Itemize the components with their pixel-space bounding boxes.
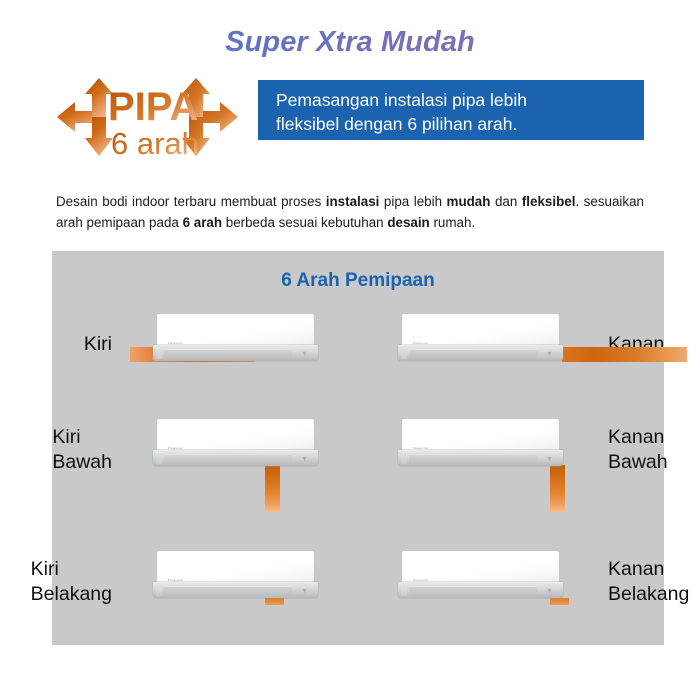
diagram-cell-kanan-bawah: Kanan Bawah Panasonic ▾ — [358, 411, 664, 511]
ac-unit: Panasonic ▾ — [153, 419, 318, 466]
direction-label: Kiri Belakang — [31, 557, 112, 607]
ac-unit: Panasonic ▾ — [153, 551, 318, 598]
ac-unit-body: Panasonic — [402, 551, 559, 584]
ac-unit-body: Panasonic — [157, 419, 314, 452]
ac-unit-vent-bar: ▾ — [153, 582, 318, 598]
ac-unit-vent-bar: ▾ — [398, 450, 563, 466]
pipe-direction-row: Kiri Panasonic ▾ Kanan Pa — [52, 306, 664, 406]
para-seg-6: rumah. — [430, 215, 475, 230]
ac-unit-vent-bar: ▾ — [398, 345, 563, 361]
direction-label: Kanan Belakang — [608, 557, 689, 607]
para-bold-instalasi: instalasi — [326, 194, 380, 209]
pipe-direction-row: Kiri Belakang Panasonic ▾ Kanan Belakang — [52, 543, 664, 643]
ac-unit-louver — [409, 454, 537, 464]
pipe-stub-left — [265, 598, 284, 605]
vent-icon: ▾ — [543, 586, 556, 595]
vent-icon: ▾ — [543, 454, 556, 463]
diagram-cell-kiri: Kiri Panasonic ▾ — [52, 306, 358, 406]
ac-unit-body: Panasonic — [402, 419, 559, 452]
callout-line-1: Pemasangan instalasi pipa lebih — [276, 88, 644, 112]
vent-icon: ▾ — [298, 586, 311, 595]
direction-label-line-1: Kanan — [608, 425, 668, 450]
pipe-direction-row: Kiri Bawah Panasonic ▾ Kanan Bawah — [52, 411, 664, 511]
diagram-cell-kiri-bawah: Kiri Bawah Panasonic ▾ — [52, 411, 358, 511]
diagram-cell-kanan: Kanan Panasonic ▾ — [358, 306, 664, 406]
ac-unit: Panasonic ▾ — [398, 419, 563, 466]
direction-label: Kiri — [84, 332, 112, 357]
para-seg-2: pipa lebih — [379, 194, 446, 209]
ac-unit-body: Panasonic — [402, 314, 559, 347]
ac-unit-endcap — [401, 453, 407, 464]
ac-unit-vent-bar: ▾ — [153, 345, 318, 361]
pipe-vertical-left — [265, 465, 280, 512]
ac-unit-louver — [164, 454, 292, 464]
direction-label-line-2: Bawah — [608, 450, 668, 475]
logo-top-text: PIPA — [108, 85, 198, 129]
direction-label-line-1: Kanan — [608, 557, 689, 582]
vent-icon: ▾ — [298, 454, 311, 463]
pipe-horizontal-right — [562, 347, 687, 362]
callout-box: Pemasangan instalasi pipa lebih fleksibe… — [258, 80, 644, 140]
description-paragraph: Desain bodi indoor terbaru membuat prose… — [56, 191, 644, 233]
pipe-stub-right — [550, 598, 569, 605]
direction-label: Kiri Bawah — [52, 425, 112, 475]
diagram-cell-kiri-belakang: Kiri Belakang Panasonic ▾ — [52, 543, 358, 643]
para-seg-1: Desain bodi indoor terbaru membuat prose… — [56, 194, 326, 209]
callout-line-2: fleksibel dengan 6 pilihan arah. — [276, 112, 644, 136]
ac-unit: Panasonic ▾ — [398, 314, 563, 361]
direction-label-line-2: Bawah — [52, 450, 112, 475]
vent-icon: ▾ — [298, 349, 311, 358]
direction-label-line-1: Kiri — [52, 425, 112, 450]
direction-label: Kanan Bawah — [608, 425, 668, 475]
ac-unit-endcap — [401, 348, 407, 359]
para-bold-desain: desain — [387, 215, 429, 230]
ac-unit-body: Panasonic — [157, 314, 314, 347]
para-seg-5: berbeda sesuai kebutuhan — [222, 215, 387, 230]
para-bold-6-arah: 6 arah — [183, 215, 222, 230]
ac-unit-endcap — [156, 348, 162, 359]
direction-label-line-1: Kiri — [31, 557, 112, 582]
page-title: Super Xtra Mudah — [0, 26, 700, 59]
ac-unit-vent-bar: ▾ — [153, 450, 318, 466]
ac-unit-endcap — [156, 585, 162, 596]
panel-heading: 6 Arah Pemipaan — [52, 270, 664, 292]
para-bold-mudah: mudah — [447, 194, 491, 209]
vent-icon: ▾ — [543, 349, 556, 358]
pipe-vertical-right — [550, 465, 565, 512]
ac-unit-endcap — [401, 585, 407, 596]
para-seg-3: dan — [490, 194, 521, 209]
ac-unit: Panasonic ▾ — [398, 551, 563, 598]
logo-bottom-text: 6 arah — [111, 126, 199, 161]
ac-unit-louver — [164, 586, 292, 596]
ac-unit-endcap — [156, 453, 162, 464]
pipa-6-arah-logo: PIPA 6 arah — [55, 72, 240, 162]
ac-unit: Panasonic ▾ — [153, 314, 318, 361]
ac-unit-louver — [409, 349, 537, 359]
ac-unit-louver — [409, 586, 537, 596]
direction-label-line-2: Belakang — [608, 582, 689, 607]
ac-unit-body: Panasonic — [157, 551, 314, 584]
para-bold-fleksibel: fleksibel — [522, 194, 576, 209]
diagram-panel: 6 Arah Pemipaan Kiri Panasonic ▾ Kanan — [52, 251, 664, 645]
ac-unit-vent-bar: ▾ — [398, 582, 563, 598]
ac-unit-louver — [164, 349, 292, 359]
direction-label-line-2: Belakang — [31, 582, 112, 607]
direction-label-line-1: Kiri — [84, 332, 112, 357]
diagram-cell-kanan-belakang: Kanan Belakang Panasonic ▾ — [358, 543, 664, 643]
